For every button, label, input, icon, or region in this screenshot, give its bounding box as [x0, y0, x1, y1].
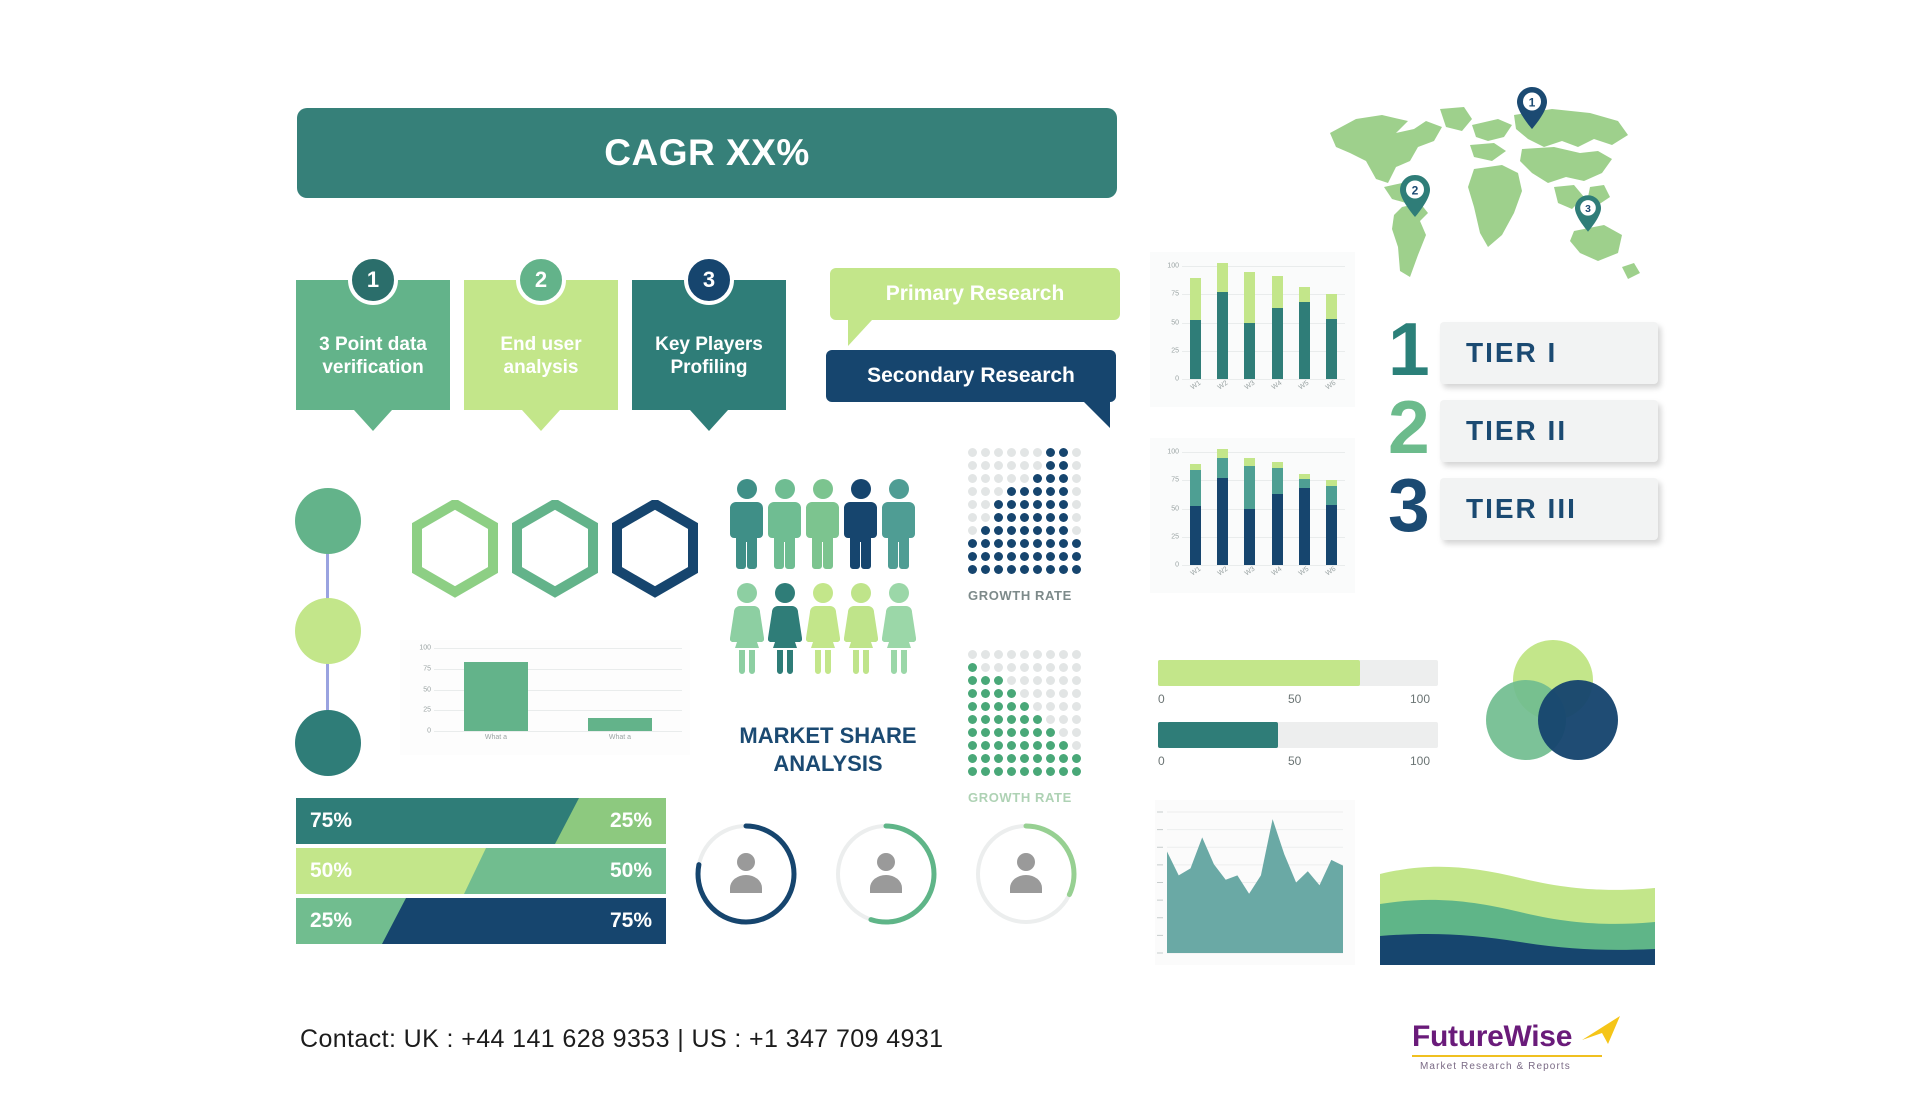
bar-segment — [1190, 470, 1201, 506]
bar-segment — [1299, 287, 1310, 302]
dot-filled — [981, 754, 990, 763]
slider-2-tick-100: 100 — [1410, 754, 1430, 768]
dot-empty — [1059, 689, 1068, 698]
stacked-bar-bottom-plot: 0255075100W1W2W3W4W5W6 — [1182, 452, 1345, 565]
dot-empty — [1007, 676, 1016, 685]
bar-segment — [1326, 486, 1337, 505]
percent-bar-3-right: 75% — [381, 898, 666, 944]
dot-empty — [1072, 702, 1081, 711]
map-pin-1[interactable]: 1 — [1517, 87, 1547, 134]
x-tick-label: W3 — [1244, 380, 1257, 392]
dot-empty — [1059, 663, 1068, 672]
small-bar-chart-plot: 0255075100What aWhat a — [434, 648, 682, 731]
bar-column[interactable]: W4 — [1272, 276, 1283, 379]
bar-segment — [1299, 302, 1310, 379]
dot-filled — [1046, 474, 1055, 483]
gridline — [1182, 323, 1345, 324]
dot-empty — [981, 650, 990, 659]
slider-2-fill — [1158, 722, 1278, 748]
dot-filled — [1059, 461, 1068, 470]
person-female-icon — [768, 582, 802, 679]
arrow-icon — [1580, 1014, 1622, 1048]
x-tick-label: W6 — [1325, 380, 1338, 392]
tier-2-label: TIER II — [1466, 415, 1567, 447]
person-female-icon — [806, 582, 840, 679]
small-bar-chart: 0255075100What aWhat a — [400, 640, 690, 755]
percent-bar-2-left-label: 50% — [310, 859, 352, 883]
step-card-2-label: End user analysis — [472, 333, 610, 379]
bar-segment — [1272, 308, 1283, 379]
slider-1-tick-50: 50 — [1288, 692, 1301, 706]
market-share-title-text: MARKET SHARE ANALYSIS — [739, 723, 916, 776]
tier-2-number: 2 — [1388, 390, 1430, 465]
dot-filled — [1046, 526, 1055, 535]
step-badge-2: 2 — [516, 255, 566, 305]
dot-filled — [1059, 539, 1068, 548]
gauge-2[interactable] — [830, 818, 942, 935]
dot-filled — [1033, 552, 1042, 561]
dot-empty — [994, 663, 1003, 672]
dot-filled — [1007, 715, 1016, 724]
contact-line: Contact: UK : +44 141 628 9353 | US : +1… — [300, 1025, 943, 1054]
dot-empty — [1059, 676, 1068, 685]
bar-segment — [1326, 505, 1337, 565]
gridline — [434, 648, 682, 649]
growth-rate-bottom: GROWTH RATE — [968, 650, 1108, 810]
dot-filled — [981, 526, 990, 535]
venn-circle-right — [1538, 680, 1618, 760]
bar-column[interactable]: W6 — [1326, 294, 1337, 379]
dot-empty — [1046, 689, 1055, 698]
dot-filled — [1072, 754, 1081, 763]
dot-empty — [968, 448, 977, 457]
dot-filled — [1033, 474, 1042, 483]
dot-empty — [1046, 715, 1055, 724]
bar-column[interactable]: What a — [588, 718, 652, 731]
bar-segment — [1299, 488, 1310, 565]
percent-bar-3-left-label: 25% — [310, 909, 352, 933]
x-tick-label: W1 — [1189, 380, 1202, 392]
chain-circle-2[interactable] — [295, 598, 361, 664]
circle-chain — [295, 488, 375, 768]
step-card-3-label: Key Players Profiling — [640, 333, 778, 379]
dot-filled — [1046, 513, 1055, 522]
dot-empty — [1020, 448, 1029, 457]
bar-segment — [1272, 468, 1283, 494]
person-female-icon — [882, 582, 916, 679]
percent-bar-1-left: 75% — [296, 798, 579, 844]
infographic-canvas: CAGR XX% — [0, 0, 1920, 1097]
bar-segment — [1217, 292, 1228, 379]
bar-segment — [1244, 458, 1255, 466]
growth-rate-top: GROWTH RATE — [968, 448, 1108, 608]
map-pin-3[interactable]: 3 — [1575, 195, 1601, 237]
step-card-3-tail — [690, 410, 728, 431]
bar-column[interactable]: W3 — [1244, 272, 1255, 379]
dot-filled — [1007, 728, 1016, 737]
dot-filled — [1020, 767, 1029, 776]
dot-filled — [994, 715, 1003, 724]
dot-filled — [1046, 741, 1055, 750]
dot-filled — [968, 676, 977, 685]
dot-empty — [1046, 702, 1055, 711]
dot-empty — [1033, 663, 1042, 672]
gridline — [1182, 452, 1345, 453]
secondary-research-bubble[interactable]: Secondary Research — [826, 350, 1116, 402]
bar-segment — [1272, 276, 1283, 308]
percent-bar-row-2[interactable]: 50% 50% — [296, 848, 666, 894]
step-card-1-label: 3 Point data verification — [304, 333, 442, 379]
dot-filled — [968, 565, 977, 574]
tier-3-plate[interactable]: TIER III — [1440, 478, 1658, 540]
step-card-1-tail — [354, 410, 392, 431]
dot-empty — [1072, 448, 1081, 457]
dot-filled — [1020, 702, 1029, 711]
person-male-icon — [768, 478, 802, 575]
dot-empty — [1072, 715, 1081, 724]
dot-filled — [1007, 754, 1016, 763]
dot-empty — [981, 461, 990, 470]
dot-filled — [1033, 539, 1042, 548]
dot-filled — [1007, 702, 1016, 711]
dot-filled — [1046, 754, 1055, 763]
dot-filled — [1020, 526, 1029, 535]
dot-filled — [1059, 474, 1068, 483]
percent-bar-2-left: 50% — [296, 848, 486, 894]
dot-filled — [1020, 565, 1029, 574]
x-tick-label: What a — [609, 734, 631, 741]
bar-segment — [1299, 479, 1310, 488]
dot-filled — [1020, 715, 1029, 724]
tier-1-plate[interactable]: TIER I — [1440, 322, 1658, 384]
venn-svg — [1478, 638, 1628, 768]
dot-filled — [1020, 728, 1029, 737]
slider-1-tick-100: 100 — [1410, 692, 1430, 706]
percent-bar-3-right-label: 75% — [610, 909, 652, 933]
dot-empty — [1072, 676, 1081, 685]
dot-filled — [1020, 539, 1029, 548]
dot-filled — [968, 689, 977, 698]
bar-column[interactable]: W4 — [1272, 462, 1283, 565]
dot-filled — [994, 754, 1003, 763]
gridline — [1182, 509, 1345, 510]
dot-filled — [1046, 728, 1055, 737]
dot-filled — [1072, 565, 1081, 574]
dot-filled — [981, 676, 990, 685]
step-badge-3: 3 — [684, 255, 734, 305]
dot-empty — [994, 650, 1003, 659]
bar-segment — [1190, 278, 1201, 320]
dot-filled — [981, 689, 990, 698]
dot-empty — [1072, 728, 1081, 737]
bar-column[interactable]: W1 — [1190, 464, 1201, 565]
y-tick-label: 0 — [1175, 562, 1179, 569]
tier-row-3[interactable]: 3 TIER III — [1388, 478, 1658, 544]
dot-filled — [994, 702, 1003, 711]
dot-empty — [1046, 663, 1055, 672]
dot-filled — [1059, 448, 1068, 457]
slider-1-tick-0: 0 — [1158, 692, 1165, 706]
person-avatar-icon — [870, 853, 902, 893]
x-tick-label: W3 — [1244, 566, 1257, 578]
dot-filled — [1020, 552, 1029, 561]
slider-2-track[interactable] — [1158, 722, 1438, 748]
dot-filled — [981, 552, 990, 561]
x-tick-label: What a — [485, 734, 507, 741]
y-tick-label: 50 — [1171, 505, 1179, 512]
map-pin-2[interactable]: 2 — [1400, 175, 1430, 222]
dot-filled — [994, 728, 1003, 737]
dot-filled — [994, 526, 1003, 535]
dot-empty — [968, 650, 977, 659]
cagr-banner: CAGR XX% — [297, 108, 1117, 198]
x-tick-label: W4 — [1271, 380, 1284, 392]
dot-empty — [1007, 448, 1016, 457]
dot-filled — [994, 767, 1003, 776]
dot-filled — [968, 702, 977, 711]
y-tick-label: 0 — [427, 728, 431, 735]
dot-filled — [1033, 767, 1042, 776]
y-tick-label: 75 — [1171, 477, 1179, 484]
dot-filled — [1059, 487, 1068, 496]
step-badge-1: 1 — [348, 255, 398, 305]
dot-filled — [981, 715, 990, 724]
dot-filled — [981, 741, 990, 750]
step-badge-3-number: 3 — [703, 267, 715, 294]
dot-filled — [1059, 513, 1068, 522]
slider-2-tick-0: 0 — [1158, 754, 1165, 768]
slider-2-tick-50: 50 — [1288, 754, 1301, 768]
bar-column[interactable]: W2 — [1217, 263, 1228, 379]
bar-segment — [1244, 466, 1255, 509]
dot-empty — [1072, 461, 1081, 470]
chain-circle-1[interactable] — [295, 488, 361, 554]
dot-filled — [1046, 461, 1055, 470]
percent-bar-row-1[interactable]: 25% 75% — [296, 798, 666, 844]
bar-segment — [1217, 263, 1228, 292]
dot-empty — [1072, 513, 1081, 522]
bar-segment — [1326, 319, 1337, 379]
dot-empty — [1059, 715, 1068, 724]
primary-research-label: Primary Research — [886, 282, 1065, 306]
secondary-research-label: Secondary Research — [867, 364, 1075, 388]
dot-filled — [1007, 741, 1016, 750]
tier-row-2[interactable]: 2 TIER II — [1388, 400, 1658, 466]
dot-filled — [1072, 539, 1081, 548]
bar-column[interactable]: W2 — [1217, 449, 1228, 565]
dot-filled — [981, 702, 990, 711]
hexagon-2 — [517, 504, 593, 592]
dot-empty — [1059, 728, 1068, 737]
dot-filled — [1007, 539, 1016, 548]
growth-rate-bottom-grid — [968, 650, 1081, 776]
dot-empty — [1033, 689, 1042, 698]
bar-column[interactable]: W3 — [1244, 458, 1255, 565]
map-pin-3-number: 3 — [1585, 204, 1591, 215]
growth-rate-bottom-label: GROWTH RATE — [968, 790, 1072, 805]
dot-filled — [1059, 565, 1068, 574]
step-card-3[interactable]: 3 Key Players Profiling — [632, 280, 786, 410]
dot-empty — [1007, 461, 1016, 470]
dot-filled — [1046, 487, 1055, 496]
dot-empty — [1072, 474, 1081, 483]
dot-empty — [968, 500, 977, 509]
dot-filled — [1059, 552, 1068, 561]
dot-empty — [1033, 676, 1042, 685]
step-card-1[interactable]: 1 3 Point data verification — [296, 280, 450, 410]
dot-filled — [994, 689, 1003, 698]
y-tick-label: 75 — [1171, 291, 1179, 298]
stacked-bar-chart-bottom: 0255075100W1W2W3W4W5W6 — [1150, 438, 1355, 593]
person-avatar-icon — [1010, 853, 1042, 893]
dot-empty — [1072, 487, 1081, 496]
dot-filled — [968, 539, 977, 548]
person-female-icon — [730, 582, 764, 679]
slider-1-track[interactable] — [1158, 660, 1438, 686]
gauge-1[interactable] — [690, 818, 802, 935]
dot-empty — [1072, 663, 1081, 672]
dot-empty — [994, 487, 1003, 496]
x-tick-label: W1 — [1189, 566, 1202, 578]
step-card-2[interactable]: 2 End user analysis — [464, 280, 618, 410]
stacked-area-chart — [1380, 800, 1655, 965]
bar-segment — [1190, 320, 1201, 379]
y-tick-label: 50 — [423, 686, 431, 693]
primary-research-bubble[interactable]: Primary Research — [830, 268, 1120, 320]
dot-empty — [1072, 526, 1081, 535]
dot-empty — [981, 663, 990, 672]
gridline — [1182, 351, 1345, 352]
dot-empty — [1033, 448, 1042, 457]
chain-circle-3[interactable] — [295, 710, 361, 776]
bar-segment — [1217, 478, 1228, 565]
person-female-icon — [844, 582, 878, 679]
dot-filled — [981, 565, 990, 574]
person-male-icon — [844, 478, 878, 575]
world-map: 1 2 3 — [1322, 95, 1652, 295]
bar-segment — [1244, 323, 1255, 380]
y-tick-label: 100 — [1167, 263, 1179, 270]
bar-column[interactable]: What a — [464, 662, 528, 731]
secondary-bubble-tail — [1084, 402, 1110, 428]
slider-group: 0 50 100 0 50 100 — [1158, 660, 1438, 770]
dot-filled — [1046, 448, 1055, 457]
tier-2-plate[interactable]: TIER II — [1440, 400, 1658, 462]
dot-empty — [981, 513, 990, 522]
teal-area-chart — [1155, 800, 1355, 965]
dot-filled — [1033, 728, 1042, 737]
dot-filled — [981, 767, 990, 776]
bar-segment — [1244, 272, 1255, 323]
y-tick-label: 75 — [423, 665, 431, 672]
logo-divider — [1412, 1055, 1602, 1057]
dot-empty — [1059, 702, 1068, 711]
percent-bar-row-3[interactable]: 75% 25% — [296, 898, 666, 944]
cagr-label: CAGR XX% — [604, 132, 809, 174]
x-tick-label: W2 — [1216, 380, 1229, 392]
bar-column[interactable]: W6 — [1326, 480, 1337, 565]
y-tick-label: 25 — [423, 707, 431, 714]
dot-empty — [1007, 663, 1016, 672]
dot-filled — [1007, 767, 1016, 776]
gridline — [1182, 266, 1345, 267]
tier-1-label: TIER I — [1466, 337, 1557, 369]
gridline — [1182, 379, 1345, 380]
dot-filled — [1020, 741, 1029, 750]
gridline — [434, 731, 682, 732]
dot-filled — [994, 565, 1003, 574]
futurewise-logo[interactable]: FutureWise Market Research & Reports — [1412, 1020, 1602, 1072]
dot-filled — [994, 500, 1003, 509]
dot-filled — [1033, 754, 1042, 763]
dot-filled — [1020, 513, 1029, 522]
dot-filled — [1046, 539, 1055, 548]
dot-empty — [981, 487, 990, 496]
dot-filled — [1020, 754, 1029, 763]
dot-empty — [981, 448, 990, 457]
percent-bar-1-left-label: 75% — [310, 809, 352, 833]
step-cards: 1 3 Point data verification 2 End user a… — [296, 280, 816, 440]
step-badge-2-number: 2 — [535, 267, 547, 294]
person-male-icon — [730, 478, 764, 575]
tier-1-number: 1 — [1388, 312, 1430, 387]
dot-filled — [968, 754, 977, 763]
bar-segment — [1217, 458, 1228, 478]
dot-filled — [1033, 565, 1042, 574]
dot-empty — [1046, 676, 1055, 685]
gridline — [1182, 565, 1345, 566]
stacked-bar-top-plot: 0255075100W1W2W3W4W5W6 — [1182, 266, 1345, 379]
dot-filled — [1046, 552, 1055, 561]
bar-column[interactable]: W5 — [1299, 287, 1310, 379]
dot-empty — [1020, 650, 1029, 659]
dot-empty — [1007, 650, 1016, 659]
bar-column[interactable]: W1 — [1190, 278, 1201, 379]
dot-filled — [1020, 487, 1029, 496]
dot-filled — [1059, 526, 1068, 535]
tier-row-1[interactable]: 1 TIER I — [1388, 322, 1658, 388]
y-tick-label: 25 — [1171, 347, 1179, 354]
logo-tagline: Market Research & Reports — [1420, 1061, 1602, 1072]
dot-filled — [1072, 767, 1081, 776]
bar-segment — [1272, 494, 1283, 565]
dot-filled — [1033, 741, 1042, 750]
dot-filled — [1046, 500, 1055, 509]
dot-filled — [1033, 526, 1042, 535]
person-male-icon — [806, 478, 840, 575]
market-share-people — [730, 478, 930, 678]
dot-filled — [1007, 526, 1016, 535]
dot-filled — [981, 728, 990, 737]
hexagon-1 — [417, 504, 493, 592]
hexagon-group-svg — [410, 500, 700, 610]
market-share-title: MARKET SHARE ANALYSIS — [718, 722, 938, 777]
dot-filled — [1059, 767, 1068, 776]
bar-segment — [1244, 509, 1255, 566]
tier-3-label: TIER III — [1466, 493, 1577, 525]
gridline — [1182, 537, 1345, 538]
dot-filled — [994, 539, 1003, 548]
step-card-2-tail — [522, 410, 560, 431]
gauge-3[interactable] — [970, 818, 1082, 935]
dot-empty — [981, 474, 990, 483]
dot-filled — [1072, 552, 1081, 561]
dot-filled — [1007, 565, 1016, 574]
bar-column[interactable]: W5 — [1299, 474, 1310, 566]
dot-filled — [1007, 552, 1016, 561]
dot-empty — [994, 474, 1003, 483]
gauge-group — [690, 818, 1090, 938]
